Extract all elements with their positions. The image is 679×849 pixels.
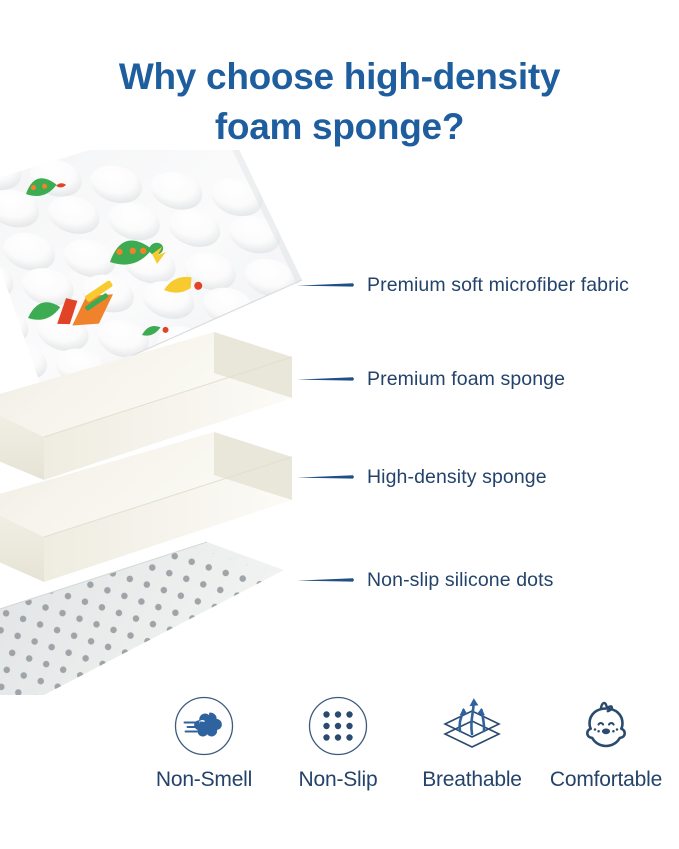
leader-line-icon — [297, 575, 355, 585]
feature-label: Breathable — [422, 768, 522, 792]
feature-label: Comfortable — [550, 768, 662, 792]
leader-line-icon — [297, 280, 355, 290]
callout-high-density-sponge: High-density sponge — [297, 460, 547, 494]
feature-comfortable: Comfortable — [542, 693, 670, 792]
non-smell-icon — [173, 693, 235, 759]
page-title-line2: foam sponge? — [0, 102, 679, 152]
exploded-layer-diagram — [0, 150, 322, 695]
callout-label: Premium foam sponge — [367, 368, 565, 391]
leader-line-icon — [297, 374, 355, 384]
callout-premium-foam-sponge: Premium foam sponge — [297, 362, 565, 396]
product-infographic: Why choose high-density foam sponge? — [0, 0, 679, 849]
callout-label: Premium soft microfiber fabric — [367, 274, 629, 297]
feature-breathable: Breathable — [408, 693, 536, 792]
feature-label: Non-Smell — [156, 768, 252, 792]
feature-non-slip: Non-Slip — [274, 693, 402, 792]
callout-premium-soft-microfiber-fabric: Premium soft microfiber fabric — [297, 268, 629, 302]
feature-label: Non-Slip — [299, 768, 378, 792]
page-title-line1: Why choose high-density — [0, 52, 679, 102]
callout-label: High-density sponge — [367, 466, 547, 489]
page-title: Why choose high-density foam sponge? — [0, 52, 679, 153]
non-slip-dots-icon — [307, 693, 369, 759]
callout-non-slip-silicone-dots: Non-slip silicone dots — [297, 563, 553, 597]
feature-non-smell: Non-Smell — [140, 693, 268, 792]
baby-face-icon — [575, 693, 637, 759]
leader-line-icon — [297, 472, 355, 482]
breathable-layers-icon — [439, 693, 505, 759]
feature-row: Non-Smell — [140, 693, 670, 792]
callout-label: Non-slip silicone dots — [367, 569, 553, 592]
